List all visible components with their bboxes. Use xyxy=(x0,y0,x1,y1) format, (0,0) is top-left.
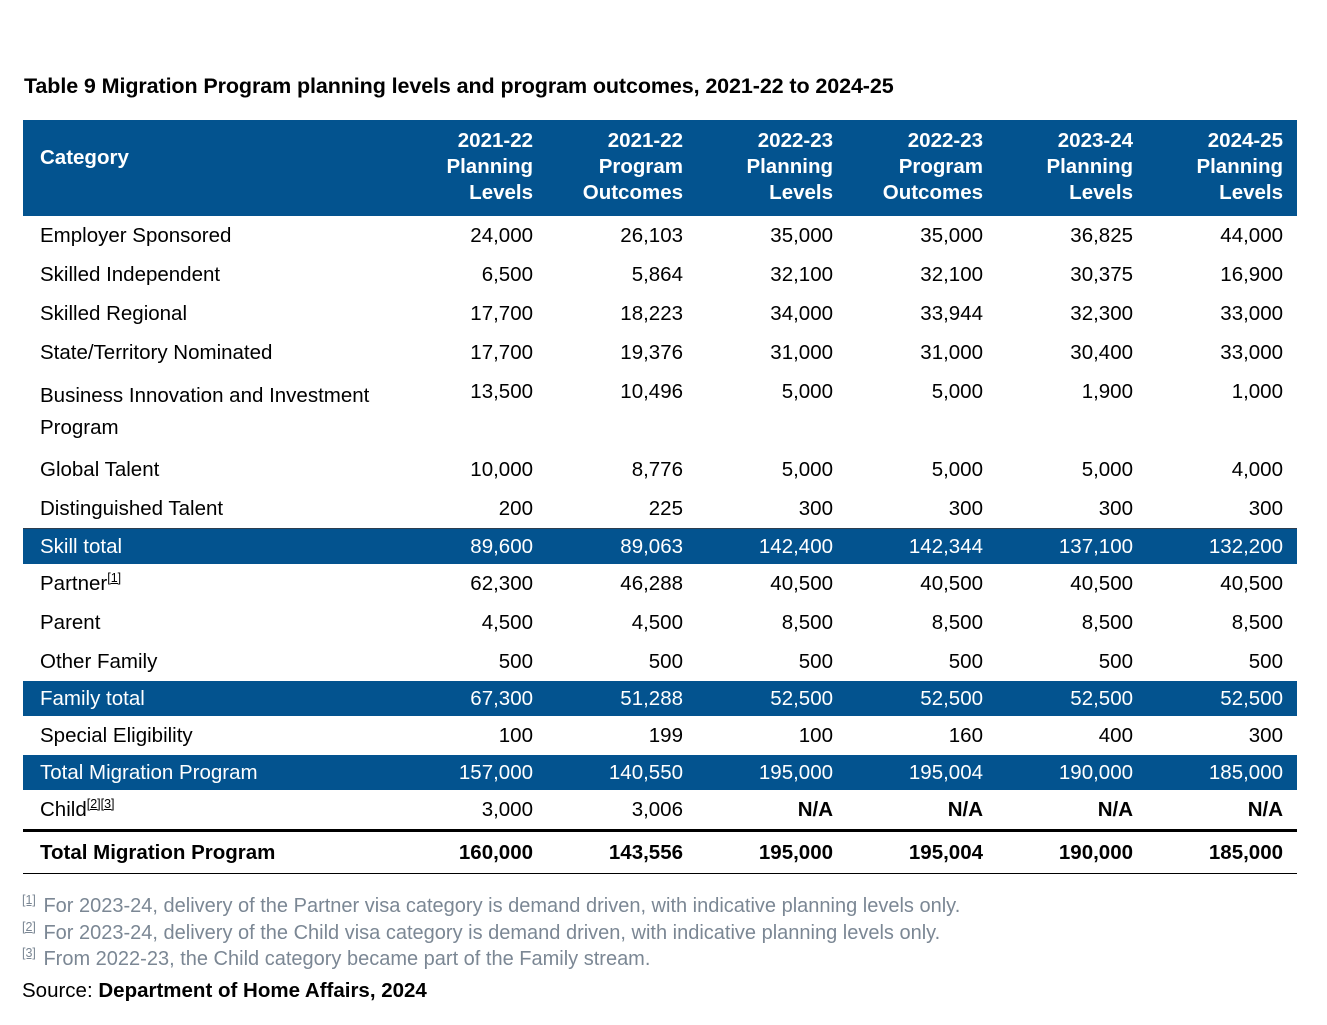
row-value-cell: 225 xyxy=(547,489,697,529)
row-value-cell: N/A xyxy=(1147,790,1297,831)
row-category-label: Family total xyxy=(40,687,145,710)
row-value-cell: N/A xyxy=(697,790,847,831)
table-row: Business Innovation and Investment Progr… xyxy=(23,372,1297,450)
row-value-cell: 35,000 xyxy=(847,216,997,255)
column-header-line: Program xyxy=(853,154,983,180)
row-value-cell: 89,600 xyxy=(397,529,547,565)
row-value-cell: 142,400 xyxy=(697,529,847,565)
row-category-label: Other Family xyxy=(40,650,157,673)
subtotal-row: Family total67,30051,28852,50052,50052,5… xyxy=(23,681,1297,716)
footnote-text: For 2023-24, delivery of the Child visa … xyxy=(43,922,940,944)
row-value-cell: 500 xyxy=(997,642,1147,681)
row-value-cell: 4,500 xyxy=(547,603,697,642)
row-value-cell: 52,500 xyxy=(697,681,847,716)
subtotal-row: Skill total89,60089,063142,400142,344137… xyxy=(23,529,1297,565)
row-category-cell: State/Territory Nominated xyxy=(23,333,397,372)
row-value-cell: 8,500 xyxy=(997,603,1147,642)
row-category-cell: Distinguished Talent xyxy=(23,489,397,529)
row-value-cell: 40,500 xyxy=(697,564,847,603)
footnote-item: [3] From 2022-23, the Child category bec… xyxy=(22,946,1302,973)
row-category-cell: Family total xyxy=(23,681,397,716)
column-header-line: Planning xyxy=(403,154,533,180)
column-header-line: Planning xyxy=(1003,154,1133,180)
row-category-cell: Total Migration Program xyxy=(23,755,397,790)
row-value-cell: 300 xyxy=(997,489,1147,529)
row-value-cell: 67,300 xyxy=(397,681,547,716)
column-header-line: 2022-23 xyxy=(703,128,833,154)
row-value-cell: 500 xyxy=(397,642,547,681)
row-category-cell: Skill total xyxy=(23,529,397,565)
row-category-label: Business Innovation and Investment Progr… xyxy=(40,384,369,439)
column-header-line: 2023-24 xyxy=(1003,128,1133,154)
row-value-cell: 5,000 xyxy=(697,372,847,450)
footnote-item: [1] For 2023-24, delivery of the Partner… xyxy=(22,893,1302,920)
row-value-cell: 500 xyxy=(697,642,847,681)
row-value-cell: 40,500 xyxy=(847,564,997,603)
row-value-cell: 132,200 xyxy=(1147,529,1297,565)
column-header-po_2022_23: 2022-23ProgramOutcomes xyxy=(847,120,997,216)
row-value-cell: 300 xyxy=(847,489,997,529)
table-row: Global Talent10,0008,7765,0005,0005,0004… xyxy=(23,450,1297,489)
table-row: Skilled Regional17,70018,22334,00033,944… xyxy=(23,294,1297,333)
column-header-line: Planning xyxy=(703,154,833,180)
footnote-marker-3[interactable]: [3] xyxy=(101,797,115,811)
row-value-cell: N/A xyxy=(847,790,997,831)
row-category-cell: Special Eligibility xyxy=(23,716,397,755)
row-value-cell: 52,500 xyxy=(997,681,1147,716)
header-row: Category2021-22PlanningLevels2021-22Prog… xyxy=(23,120,1297,216)
row-category-cell: Skilled Regional xyxy=(23,294,397,333)
column-header-line: 2022-23 xyxy=(853,128,983,154)
row-value-cell: 31,000 xyxy=(847,333,997,372)
row-category-label: State/Territory Nominated xyxy=(40,341,272,364)
row-value-cell: 5,000 xyxy=(847,450,997,489)
row-value-cell: 18,223 xyxy=(547,294,697,333)
row-category-cell: Global Talent xyxy=(23,450,397,489)
row-value-cell: 5,000 xyxy=(997,450,1147,489)
table-row: Child[2][3]3,0003,006N/AN/AN/AN/A xyxy=(23,790,1297,831)
row-value-cell: 10,496 xyxy=(547,372,697,450)
source-value: Department of Home Affairs, 2024 xyxy=(98,979,426,1002)
row-value-cell: 52,500 xyxy=(847,681,997,716)
row-value-cell: 35,000 xyxy=(697,216,847,255)
row-value-cell: 34,000 xyxy=(697,294,847,333)
table-header: Category2021-22PlanningLevels2021-22Prog… xyxy=(23,120,1297,216)
row-value-cell: 32,300 xyxy=(997,294,1147,333)
row-value-cell: 3,006 xyxy=(547,790,697,831)
row-value-cell: 8,776 xyxy=(547,450,697,489)
row-value-cell: 199 xyxy=(547,716,697,755)
row-value-cell: 33,000 xyxy=(1147,294,1297,333)
column-header-pl_2022_23: 2022-23PlanningLevels xyxy=(697,120,847,216)
footnote-marker: [3] xyxy=(22,946,36,960)
row-category-cell: Other Family xyxy=(23,642,397,681)
row-value-cell: 5,864 xyxy=(547,255,697,294)
row-value-cell: 10,000 xyxy=(397,450,547,489)
row-category-cell: Total Migration Program xyxy=(23,831,397,874)
footnote-text: From 2022-23, the Child category became … xyxy=(43,948,650,970)
row-category-label: Skilled Regional xyxy=(40,302,187,325)
footnote-marker: [1] xyxy=(22,893,36,907)
row-category-label: Total Migration Program xyxy=(40,761,258,784)
row-value-cell: 62,300 xyxy=(397,564,547,603)
footnote-text: For 2023-24, delivery of the Partner vis… xyxy=(43,895,960,917)
row-value-cell: 1,900 xyxy=(997,372,1147,450)
row-value-cell: 36,825 xyxy=(997,216,1147,255)
row-value-cell: 40,500 xyxy=(997,564,1147,603)
row-value-cell: 4,000 xyxy=(1147,450,1297,489)
row-value-cell: 89,063 xyxy=(547,529,697,565)
row-value-cell: 17,700 xyxy=(397,333,547,372)
row-category-label: Employer Sponsored xyxy=(40,224,231,247)
row-value-cell: 8,500 xyxy=(847,603,997,642)
row-value-cell: 1,000 xyxy=(1147,372,1297,450)
row-value-cell: 13,500 xyxy=(397,372,547,450)
row-value-cell: 142,344 xyxy=(847,529,997,565)
row-value-cell: 30,375 xyxy=(997,255,1147,294)
row-value-cell: 24,000 xyxy=(397,216,547,255)
table-row: Employer Sponsored24,00026,10335,00035,0… xyxy=(23,216,1297,255)
row-category-label: Special Eligibility xyxy=(40,724,193,747)
row-value-cell: 195,004 xyxy=(847,755,997,790)
row-category-label: Distinguished Talent xyxy=(40,497,223,520)
column-header-line: Outcomes xyxy=(853,180,983,206)
column-header-line: Levels xyxy=(403,180,533,206)
row-value-cell: 400 xyxy=(997,716,1147,755)
row-category-cell: Employer Sponsored xyxy=(23,216,397,255)
row-value-cell: 52,500 xyxy=(1147,681,1297,716)
row-value-cell: 33,000 xyxy=(1147,333,1297,372)
row-category-label: Total Migration Program xyxy=(40,841,275,864)
column-header-pl_2024_25: 2024-25PlanningLevels xyxy=(1147,120,1297,216)
row-value-cell: 200 xyxy=(397,489,547,529)
row-value-cell: N/A xyxy=(997,790,1147,831)
row-category-label: Skill total xyxy=(40,535,122,558)
row-category-label: Partner xyxy=(40,572,107,595)
row-value-cell: 8,500 xyxy=(697,603,847,642)
column-header-line: Levels xyxy=(1003,180,1133,206)
row-category-label: Child xyxy=(40,798,87,821)
table-container: Category2021-22PlanningLevels2021-22Prog… xyxy=(23,120,1297,874)
column-header-line: Planning xyxy=(1153,154,1283,180)
row-category-label: Global Talent xyxy=(40,458,159,481)
row-category-label: Parent xyxy=(40,611,100,634)
row-value-cell: 8,500 xyxy=(1147,603,1297,642)
row-value-cell: 195,000 xyxy=(697,755,847,790)
row-value-cell: 500 xyxy=(847,642,997,681)
row-value-cell: 157,000 xyxy=(397,755,547,790)
row-value-cell: 32,100 xyxy=(697,255,847,294)
row-value-cell: 5,000 xyxy=(847,372,997,450)
column-header-po_2021_22: 2021-22ProgramOutcomes xyxy=(547,120,697,216)
row-value-cell: 195,000 xyxy=(697,831,847,874)
row-value-cell: 4,500 xyxy=(397,603,547,642)
row-value-cell: 46,288 xyxy=(547,564,697,603)
row-value-cell: 100 xyxy=(397,716,547,755)
table-row: Distinguished Talent200225300300300300 xyxy=(23,489,1297,529)
row-value-cell: 160,000 xyxy=(397,831,547,874)
row-category-label: Skilled Independent xyxy=(40,263,220,286)
row-value-cell: 137,100 xyxy=(997,529,1147,565)
column-header-line: 2021-22 xyxy=(403,128,533,154)
footnote-item: [2] For 2023-24, delivery of the Child v… xyxy=(22,920,1302,947)
row-value-cell: 100 xyxy=(697,716,847,755)
page: Table 9 Migration Program planning level… xyxy=(0,0,1327,1025)
row-value-cell: 5,000 xyxy=(697,450,847,489)
column-header-pl_2021_22: 2021-22PlanningLevels xyxy=(397,120,547,216)
row-category-cell: Parent xyxy=(23,603,397,642)
column-header-line: Program xyxy=(553,154,683,180)
migration-program-table: Category2021-22PlanningLevels2021-22Prog… xyxy=(23,120,1297,874)
source-line: Source: Department of Home Affairs, 2024 xyxy=(22,977,1302,1004)
table-row: Special Eligibility100199100160400300 xyxy=(23,716,1297,755)
table-body: Employer Sponsored24,00026,10335,00035,0… xyxy=(23,216,1297,874)
table-row: State/Territory Nominated17,70019,37631,… xyxy=(23,333,1297,372)
row-value-cell: 51,288 xyxy=(547,681,697,716)
row-value-cell: 300 xyxy=(1147,716,1297,755)
row-value-cell: 143,556 xyxy=(547,831,697,874)
row-value-cell: 6,500 xyxy=(397,255,547,294)
column-header-line: Category xyxy=(40,145,397,171)
row-value-cell: 500 xyxy=(1147,642,1297,681)
table-row: Partner[1]62,30046,28840,50040,50040,500… xyxy=(23,564,1297,603)
row-value-cell: 30,400 xyxy=(997,333,1147,372)
column-header-line: Levels xyxy=(703,180,833,206)
row-value-cell: 31,000 xyxy=(697,333,847,372)
row-category-cell: Skilled Independent xyxy=(23,255,397,294)
footnote-list: [1] For 2023-24, delivery of the Partner… xyxy=(22,893,1302,973)
table-row: Skilled Independent6,5005,86432,10032,10… xyxy=(23,255,1297,294)
table-row: Parent4,5004,5008,5008,5008,5008,500 xyxy=(23,603,1297,642)
row-category-cell: Business Innovation and Investment Progr… xyxy=(23,372,397,450)
table-title: Table 9 Migration Program planning level… xyxy=(24,74,894,99)
row-value-cell: 32,100 xyxy=(847,255,997,294)
row-value-cell: 17,700 xyxy=(397,294,547,333)
footnote-marker: [2] xyxy=(22,920,36,934)
row-value-cell: 190,000 xyxy=(997,755,1147,790)
row-category-cell: Partner[1] xyxy=(23,564,397,603)
row-value-cell: 26,103 xyxy=(547,216,697,255)
footnotes-block: [1] For 2023-24, delivery of the Partner… xyxy=(22,893,1302,1004)
column-header-line: 2024-25 xyxy=(1153,128,1283,154)
column-header-pl_2023_24: 2023-24PlanningLevels xyxy=(997,120,1147,216)
source-label: Source: xyxy=(22,979,98,1002)
row-value-cell: 160 xyxy=(847,716,997,755)
row-category-cell: Child[2][3] xyxy=(23,790,397,831)
row-value-cell: 44,000 xyxy=(1147,216,1297,255)
row-value-cell: 33,944 xyxy=(847,294,997,333)
subtotal-row: Total Migration Program157,000140,550195… xyxy=(23,755,1297,790)
column-header-line: Outcomes xyxy=(553,180,683,206)
column-header-line: 2021-22 xyxy=(553,128,683,154)
table-row: Other Family500500500500500500 xyxy=(23,642,1297,681)
row-value-cell: 16,900 xyxy=(1147,255,1297,294)
row-value-cell: 300 xyxy=(1147,489,1297,529)
row-value-cell: 185,000 xyxy=(1147,831,1297,874)
row-value-cell: 40,500 xyxy=(1147,564,1297,603)
footnote-marker-2[interactable]: [2] xyxy=(87,797,101,811)
row-value-cell: 190,000 xyxy=(997,831,1147,874)
row-value-cell: 300 xyxy=(697,489,847,529)
row-value-cell: 500 xyxy=(547,642,697,681)
column-header-line: Levels xyxy=(1153,180,1283,206)
row-value-cell: 140,550 xyxy=(547,755,697,790)
row-value-cell: 19,376 xyxy=(547,333,697,372)
column-header-category: Category xyxy=(23,120,397,216)
row-value-cell: 195,004 xyxy=(847,831,997,874)
footnote-marker-1[interactable]: [1] xyxy=(107,571,121,585)
row-value-cell: 185,000 xyxy=(1147,755,1297,790)
grand-total-row: Total Migration Program160,000143,556195… xyxy=(23,831,1297,874)
row-value-cell: 3,000 xyxy=(397,790,547,831)
